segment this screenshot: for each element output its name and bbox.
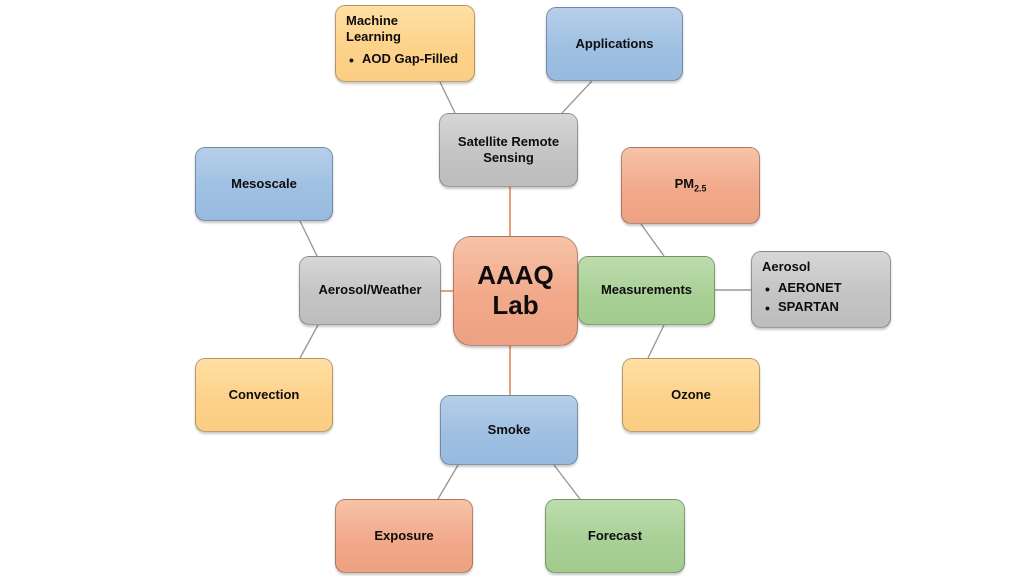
- node-mesoscale[interactable]: Mesoscale: [195, 147, 333, 221]
- node-pm25-label-subscript: 2.5: [694, 184, 706, 194]
- node-machine-learning-bullets: AOD Gap-Filled: [346, 50, 464, 69]
- node-measurements-label: Measurements: [601, 282, 692, 298]
- node-forecast-label: Forecast: [588, 528, 642, 544]
- node-aerosol-weather-label: Aerosol/Weather: [318, 282, 421, 298]
- node-smoke[interactable]: Smoke: [440, 395, 578, 465]
- node-applications-label: Applications: [575, 36, 653, 52]
- node-applications[interactable]: Applications: [546, 7, 683, 81]
- list-item: AERONET: [778, 279, 880, 298]
- diagram-canvas: MachineLearning AOD Gap-Filled Applicati…: [0, 0, 1024, 576]
- edge-measurements-to-ozone: [648, 325, 664, 358]
- node-aerosol-networks-bullets: AERONET SPARTAN: [762, 279, 880, 317]
- node-satellite-remote-sensing[interactable]: Satellite Remote Sensing: [439, 113, 578, 187]
- edge-aerosol-weather-to-convection: [300, 325, 318, 358]
- edge-aerosol-weather-to-mesoscale: [300, 221, 317, 256]
- node-forecast[interactable]: Forecast: [545, 499, 685, 573]
- node-satellite-remote-sensing-label: Satellite Remote Sensing: [440, 134, 577, 167]
- node-convection[interactable]: Convection: [195, 358, 333, 432]
- edge-measurements-to-pm25: [641, 224, 664, 256]
- node-smoke-label: Smoke: [488, 422, 531, 438]
- node-measurements[interactable]: Measurements: [578, 256, 715, 325]
- node-convection-label: Convection: [229, 387, 300, 403]
- list-item: AOD Gap-Filled: [362, 50, 464, 69]
- node-pm25-label: PM2.5: [675, 176, 707, 195]
- node-aaaq-lab[interactable]: AAAQLab: [453, 236, 578, 346]
- node-aerosol-networks-header: Aerosol: [762, 259, 880, 275]
- node-ozone[interactable]: Ozone: [622, 358, 760, 432]
- node-machine-learning-header: MachineLearning: [346, 13, 464, 46]
- node-aaaq-lab-label-line2: Lab: [492, 290, 538, 320]
- list-item: SPARTAN: [778, 298, 880, 317]
- edge-satellite-remote-sensing-to-applications: [562, 81, 592, 113]
- node-aaaq-lab-label: AAAQLab: [477, 261, 554, 321]
- node-aerosol-networks[interactable]: Aerosol AERONET SPARTAN: [751, 251, 891, 328]
- edge-smoke-to-forecast: [554, 465, 580, 499]
- node-aaaq-lab-label-line1: AAAQ: [477, 260, 554, 290]
- node-exposure[interactable]: Exposure: [335, 499, 473, 573]
- node-aerosol-weather[interactable]: Aerosol/Weather: [299, 256, 441, 325]
- edge-smoke-to-exposure: [438, 465, 458, 499]
- edge-satellite-remote-sensing-to-machine-learning: [440, 82, 455, 113]
- node-mesoscale-label: Mesoscale: [231, 176, 297, 192]
- node-pm25[interactable]: PM2.5: [621, 147, 760, 224]
- node-exposure-label: Exposure: [374, 528, 433, 544]
- node-pm25-label-base: PM: [675, 176, 695, 191]
- node-ozone-label: Ozone: [671, 387, 711, 403]
- node-machine-learning[interactable]: MachineLearning AOD Gap-Filled: [335, 5, 475, 82]
